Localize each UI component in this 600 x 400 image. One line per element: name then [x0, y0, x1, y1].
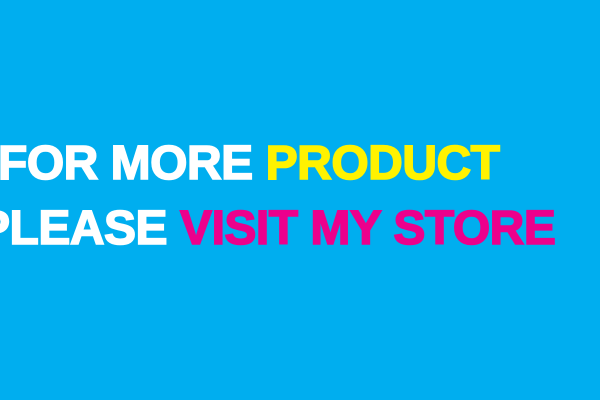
headline-line1-segment-yellow: PRODUCT	[266, 137, 500, 190]
headline-line2-segment-white: PLEASE	[0, 202, 167, 255]
headline-line-1: FOR MOREPRODUCT	[0, 140, 499, 188]
promo-banner: FOR MOREPRODUCT PLEASEVISIT MY STORE	[0, 0, 600, 400]
headline-line-2: PLEASEVISIT MY STORE	[0, 205, 555, 253]
headline-line2-segment-magenta: VISIT MY STORE	[180, 202, 555, 255]
headline-block: FOR MOREPRODUCT PLEASEVISIT MY STORE	[0, 0, 600, 400]
headline-line1-segment-white: FOR MORE	[0, 137, 253, 190]
